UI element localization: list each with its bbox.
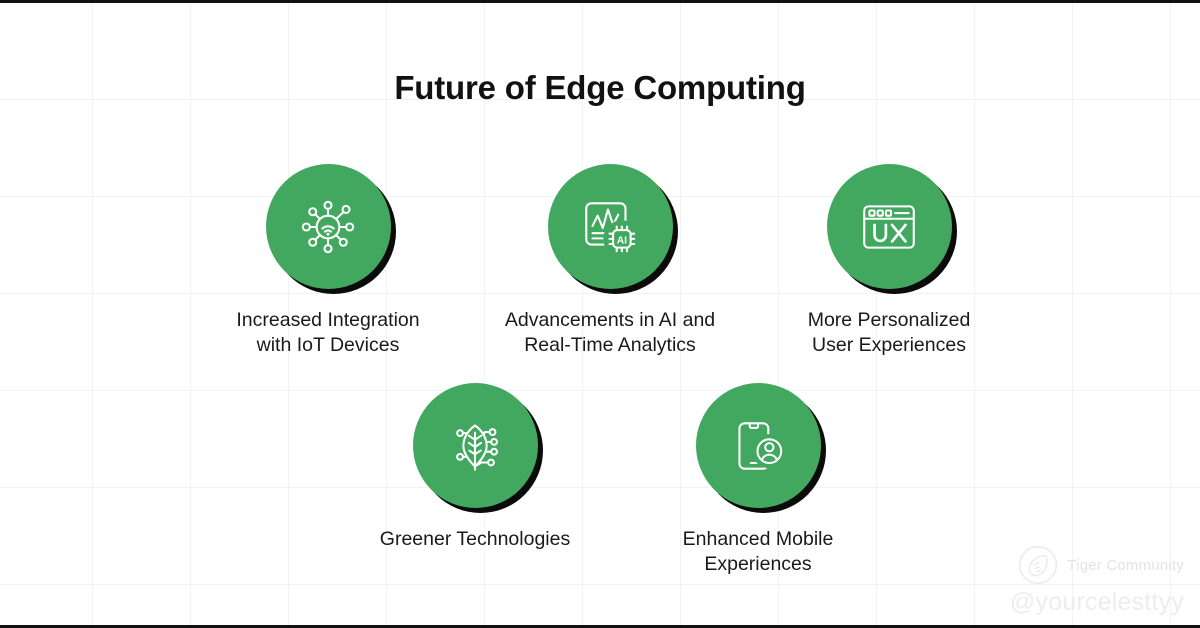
card-advancements-in-ai-and-real-time-analytics[interactable]: AI Advancements in AI and Real-Time Anal… [485,164,735,358]
svg-text:AI: AI [617,235,627,246]
icon-bubble [827,164,952,289]
card-label: More Personalized User Experiences [764,308,1014,358]
infographic-canvas: Future of Edge Computing Increased Integ… [0,0,1200,628]
card-label: Greener Technologies [350,527,600,552]
icon-bubble: AI [548,164,673,289]
page-title: Future of Edge Computing [0,69,1200,107]
card-label: Increased Integration with IoT Devices [203,308,453,358]
icon-bubble [266,164,391,289]
tiger-community-logo-icon [1016,543,1060,587]
watermark-handle: @yourcelesttyy [1010,588,1184,617]
card-label: Advancements in AI and Real-Time Analyti… [485,308,735,358]
watermark-brand-row: Tiger Community [1010,543,1184,587]
iot-network-wifi-icon [295,194,361,260]
card-increased-integration-with-iot-devices[interactable]: Increased Integration with IoT Devices [203,164,453,358]
card-enhanced-mobile-experiences[interactable]: Enhanced Mobile Experiences [633,383,883,577]
card-greener-technologies[interactable]: Greener Technologies [350,383,600,552]
ai-analytics-chip-icon: AI [577,194,643,260]
watermark: Tiger Community @yourcelesttyy [1010,543,1184,617]
card-label: Enhanced Mobile Experiences [633,527,883,577]
browser-ux-window-icon [856,194,922,260]
card-more-personalized-user-experiences[interactable]: More Personalized User Experiences [764,164,1014,358]
icon-bubble [413,383,538,508]
leaf-circuit-icon [442,413,508,479]
mobile-user-profile-icon [725,413,791,479]
watermark-brand-name: Tiger Community [1067,557,1184,574]
icon-bubble [696,383,821,508]
